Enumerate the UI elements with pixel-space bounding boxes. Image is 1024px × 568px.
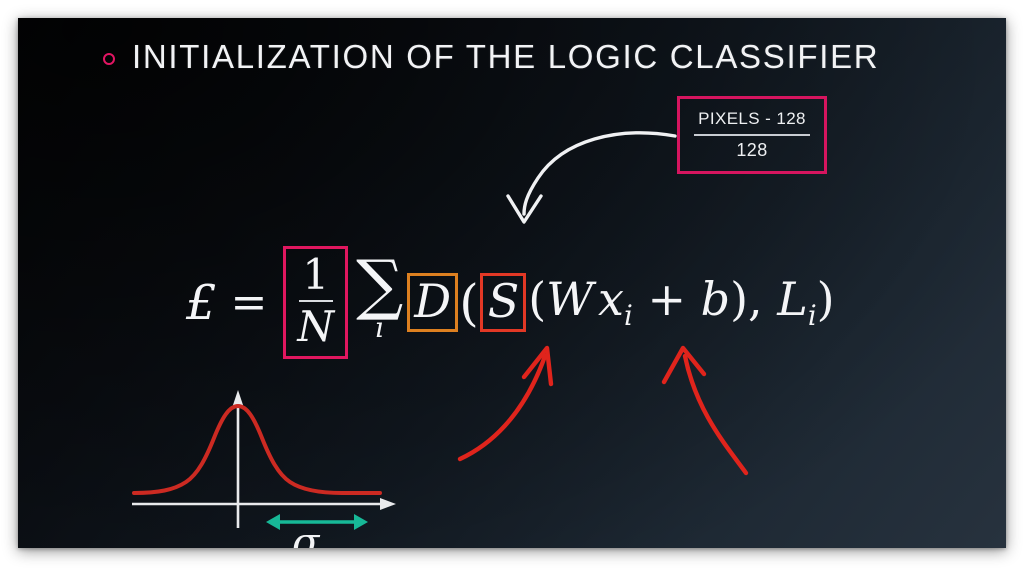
input-subscript: i <box>624 299 633 332</box>
distance-function-highlight-box: D <box>407 273 458 332</box>
callout-numerator: PIXELS - 128 <box>698 109 806 132</box>
chart-x-axis-arrowhead <box>380 498 396 510</box>
plus-symbol: + <box>647 272 686 326</box>
screenshot-stage: INITIALIZATION OF THE LOGIC CLASSIFIER P… <box>0 0 1024 568</box>
page-title: INITIALIZATION OF THE LOGIC CLASSIFIER <box>132 38 879 76</box>
circle-bullet-icon <box>103 53 115 65</box>
normalization-callout-box: PIXELS - 128 128 <box>677 96 827 174</box>
gaussian-curve <box>134 406 380 493</box>
callout-fraction-bar <box>694 134 810 136</box>
weight-symbol: W <box>546 272 593 326</box>
bias-symbol: b <box>701 272 730 326</box>
close-paren-inner: ) <box>730 272 748 326</box>
label-subscript: i <box>808 299 817 332</box>
comma-symbol: , <box>748 272 763 326</box>
callout-denominator: 128 <box>736 140 767 161</box>
label-symbol: L <box>777 272 808 326</box>
one-over-n-highlight-box: 1 N <box>283 246 348 359</box>
open-paren-outer: ( <box>458 278 480 328</box>
summation-symbol: ∑ <box>356 259 403 310</box>
sigma-arrow-right-head <box>354 514 368 530</box>
equals-symbol: = <box>231 281 284 325</box>
sigma-label: σ <box>292 523 319 548</box>
sigma-arrow-left-head <box>266 514 280 530</box>
loss-formula: £ = 1 N ∑ i D ( S (W xi + b), Li) <box>186 246 835 359</box>
formula-inner-expression: (W xi + b), Li) <box>526 275 834 331</box>
softmax-function-highlight-box: S <box>480 273 527 332</box>
presentation-slide: INITIALIZATION OF THE LOGIC CLASSIFIER P… <box>18 18 1006 548</box>
fraction-denominator: N <box>297 306 334 348</box>
summation-group: ∑ i <box>356 259 403 342</box>
fraction-numerator: 1 <box>302 255 329 295</box>
input-symbol: x <box>598 272 624 326</box>
gaussian-distribution-chart <box>128 386 408 548</box>
summation-index: i <box>375 314 384 342</box>
close-paren-outer: ) <box>817 272 835 326</box>
slide-title-row: INITIALIZATION OF THE LOGIC CLASSIFIER <box>103 38 879 76</box>
loss-symbol: £ <box>186 279 231 327</box>
